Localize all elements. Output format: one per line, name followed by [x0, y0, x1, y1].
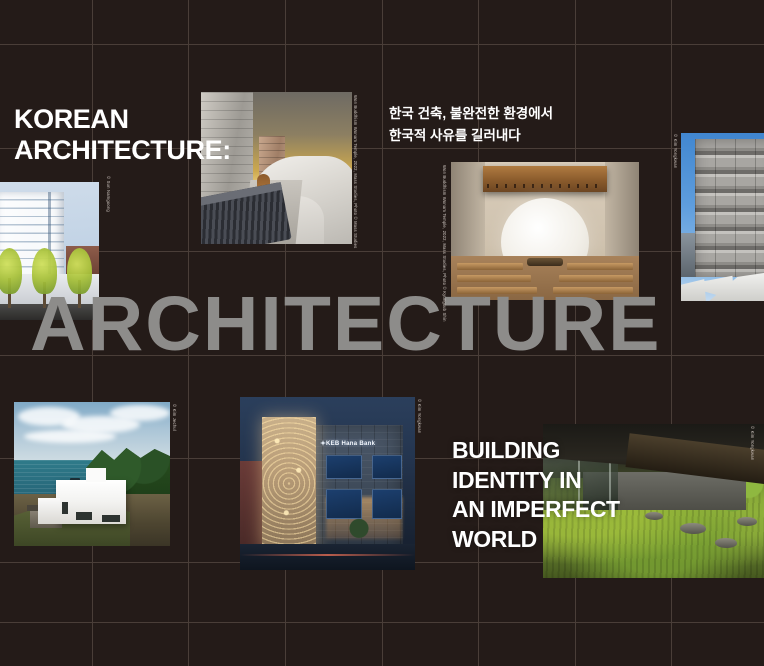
- subheadline: BUILDING IDENTITY IN AN IMPERFECT WORLD: [452, 436, 620, 554]
- korean-tagline: 한국 건축, 불완전한 환경에서 한국적 사유를 길러내다: [389, 103, 553, 147]
- street: [240, 544, 415, 570]
- photo-credit-apartment: © Sun Namgoong: [106, 176, 110, 212]
- photo-credit-sunset: Won Buddhism Wonam Temple, 2022, Mass St…: [353, 95, 357, 248]
- house-window: [102, 515, 120, 522]
- photo-credit-tower: © Kim Yongkwan: [673, 134, 677, 168]
- concrete-box-tower-photo: [681, 133, 764, 301]
- light-trail: [240, 554, 415, 556]
- grid-line-horizontal: [0, 251, 764, 252]
- keb-hana-bank-facade-photo: KEB Hana Bank: [240, 397, 415, 570]
- house-window: [62, 502, 68, 514]
- temple-interior-photo: [451, 162, 639, 300]
- page-title-line1: KOREAN: [14, 104, 231, 135]
- timber-canopy-beam: [483, 166, 607, 192]
- subheadline-line4: WORLD: [452, 525, 620, 555]
- big-architecture-word: ARCHITECTURE: [30, 286, 764, 363]
- street-tree: [8, 278, 11, 308]
- facade-window: [326, 455, 362, 479]
- subheadline-line3: AN IMPERFECT: [452, 495, 620, 525]
- garden-rock: [737, 517, 757, 526]
- grid-line-horizontal: [0, 44, 764, 45]
- photo-credit-temple: Won Buddhism Wonam Temple, 2022, Mass St…: [442, 165, 446, 322]
- subheadline-line1: BUILDING: [452, 436, 620, 466]
- cloud: [24, 430, 116, 443]
- facade-window: [372, 489, 402, 519]
- cloud: [110, 405, 170, 421]
- page-title: KOREAN ARCHITECTURE:: [14, 104, 231, 166]
- wooden-bench: [457, 263, 523, 270]
- illuminated-lace-facade: [262, 417, 316, 550]
- facade-window: [326, 489, 362, 519]
- stacked-concrete-units: [695, 139, 764, 277]
- altar-table: [527, 258, 563, 266]
- subheadline-line2: IDENTITY IN: [452, 466, 620, 496]
- grid-line-horizontal: [0, 622, 764, 623]
- house-window: [76, 512, 92, 520]
- wooden-bench: [567, 263, 633, 270]
- facade-window: [372, 455, 402, 479]
- photo-credit-garden: © Kim Yongkwan: [750, 426, 754, 460]
- garden-rock: [680, 523, 706, 534]
- garden-rock: [645, 512, 663, 520]
- garden-rock: [715, 538, 737, 548]
- photo-credit-bank: © Kim Yongkwan: [417, 399, 421, 433]
- street-tree: [348, 518, 370, 544]
- page-title-line2: ARCHITECTURE:: [14, 135, 231, 166]
- photo-credit-sea: © Kim Jechul: [172, 404, 176, 431]
- korean-tagline-line2: 한국적 사유를 길러내다: [389, 125, 553, 147]
- bank-signage-text: KEB Hana Bank: [326, 441, 375, 447]
- seaside-white-house-photo: [14, 402, 170, 546]
- poster-canvas: © Sun Namgoong Won Buddhism Wonam Temple…: [0, 0, 764, 666]
- korean-tagline-line1: 한국 건축, 불완전한 환경에서: [389, 103, 553, 125]
